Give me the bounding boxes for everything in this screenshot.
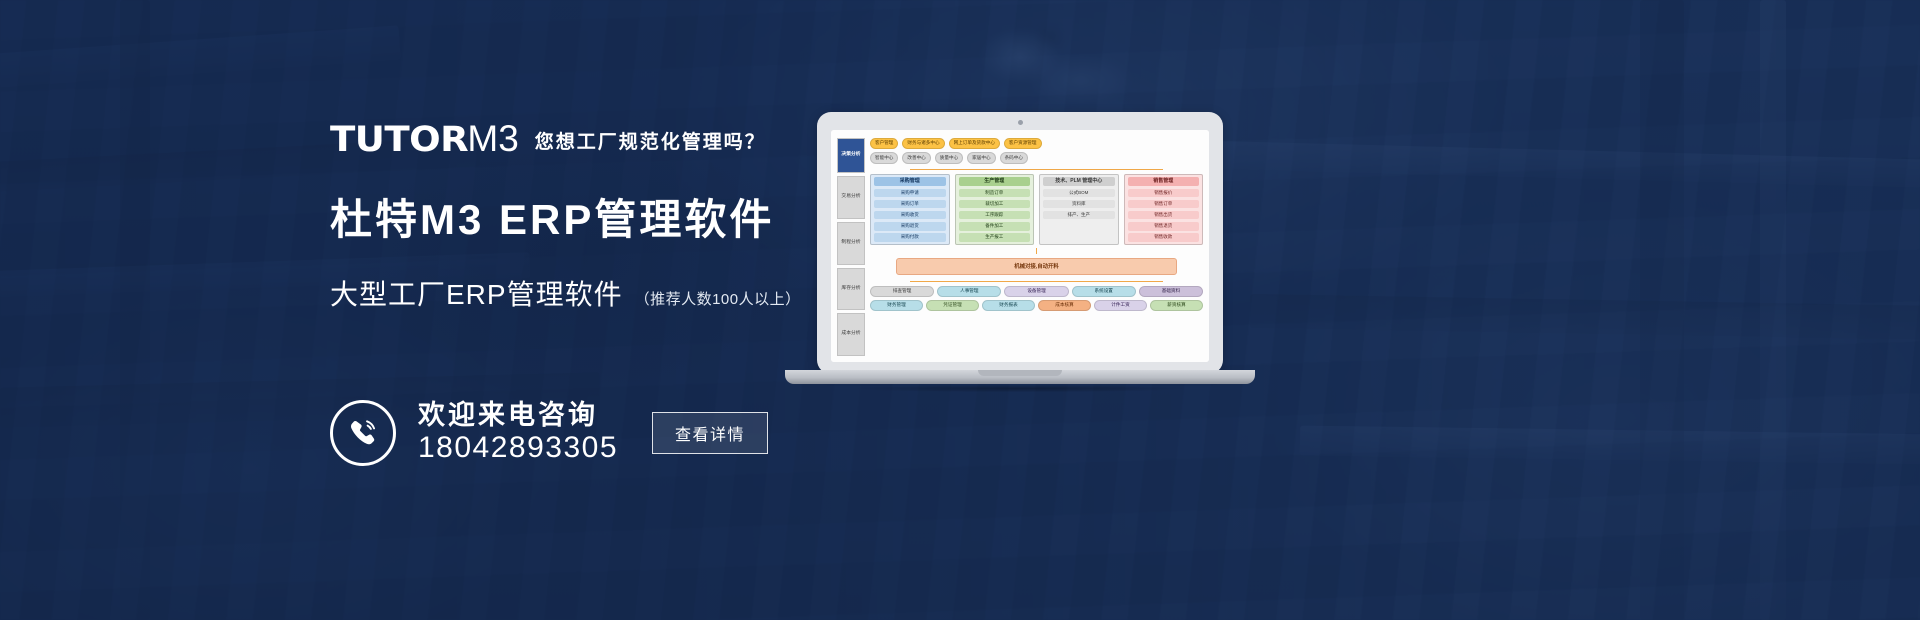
erp-chip: 条码中心 bbox=[1000, 152, 1028, 163]
erp-panel-item: 销售出货 bbox=[1128, 211, 1200, 220]
erp-panel-title: 技术、PLM 管理中心 bbox=[1043, 177, 1115, 186]
erp-chip: 人事管理 bbox=[937, 286, 1001, 297]
erp-chip: 客户资源管理 bbox=[1004, 138, 1042, 149]
erp-connector bbox=[870, 279, 1203, 283]
phone-ringing-icon[interactable] bbox=[330, 400, 396, 466]
erp-highlight-bar: 机械对接,自动开料 bbox=[896, 258, 1177, 274]
erp-left-item: 成本分析 bbox=[837, 313, 865, 356]
erp-panel-item: 采购收货 bbox=[874, 211, 946, 220]
erp-top-row-2: 智能中心 改善中心 质量中心 家居中心 条码中心 bbox=[870, 152, 1203, 163]
erp-panel-production: 生产管理 制造订单 裁切加工 工序跟踪 备件加工 生产报工 bbox=[955, 174, 1035, 245]
erp-connector-arrow bbox=[1036, 248, 1037, 254]
erp-panel-item: 销售退货 bbox=[1128, 222, 1200, 231]
erp-main-column: 客户管理 财务与诸多中心 网上订单及货款中心 客户资源管理 智能中心 改善中心 … bbox=[865, 138, 1203, 356]
erp-chip: 薪资核算 bbox=[1150, 300, 1203, 311]
erp-panel-title: 生产管理 bbox=[959, 177, 1031, 186]
erp-chip: 财务报表 bbox=[982, 300, 1035, 311]
erp-module-panels: 采购管理 采购申请 采购订单 采购收货 采购退货 采购付款 生产管理 制造订单 … bbox=[870, 174, 1203, 245]
erp-left-item: 制程分析 bbox=[837, 222, 865, 265]
erp-chip: 家居中心 bbox=[967, 152, 995, 163]
erp-chip: 客户管理 bbox=[870, 138, 898, 149]
erp-chip: 凭证管理 bbox=[926, 300, 979, 311]
erp-left-item: 交易分析 bbox=[837, 176, 865, 219]
contact-title: 欢迎来电咨询 bbox=[418, 402, 618, 430]
erp-panel-item: 生产报工 bbox=[959, 233, 1031, 242]
erp-left-item: 决策分析 bbox=[837, 138, 865, 173]
contact-block: 欢迎来电咨询 18042893305 查看详情 bbox=[330, 400, 768, 466]
erp-chip: 排查管理 bbox=[870, 286, 934, 297]
hero-banner: TUTOR M3 您想工厂规范化管理吗？ 杜特M3 ERP管理软件 大型工厂ER… bbox=[0, 0, 1920, 620]
erp-panel-purchasing: 采购管理 采购申请 采购订单 采购收货 采购退货 采购付款 bbox=[870, 174, 950, 245]
contact-text: 欢迎来电咨询 18042893305 bbox=[418, 402, 618, 464]
erp-panel-item: 排产、生产 bbox=[1043, 211, 1115, 220]
erp-chip: 基础资料 bbox=[1139, 286, 1203, 297]
erp-panel-technology: 技术、PLM 管理中心 公式BOM 资料库 排产、生产 bbox=[1039, 174, 1119, 245]
erp-chip: 设备管理 bbox=[1004, 286, 1068, 297]
erp-chip: 财务与诸多中心 bbox=[902, 138, 944, 149]
erp-bottom-row-1: 排查管理 人事管理 设备管理 系统设置 基础资料 bbox=[870, 286, 1203, 297]
erp-panel-item: 采购订单 bbox=[874, 200, 946, 209]
erp-panel-item: 采购申请 bbox=[874, 189, 946, 198]
erp-left-item: 库存分析 bbox=[837, 268, 865, 311]
hero-subtitle: 大型工厂ERP管理软件 bbox=[330, 273, 623, 313]
erp-panel-item: 公式BOM bbox=[1043, 189, 1115, 198]
erp-panel-item: 销售订单 bbox=[1128, 200, 1200, 209]
erp-architecture-diagram: 决策分析 交易分析 制程分析 库存分析 成本分析 客户管理 财务与诸多中心 网上… bbox=[831, 130, 1209, 362]
erp-panel-item: 采购付款 bbox=[874, 233, 946, 242]
erp-panel-sales: 销售管理 销售报价 销售订单 销售出货 销售退货 销售收款 bbox=[1124, 174, 1204, 245]
brand-logo-sub: M3 bbox=[467, 118, 518, 160]
erp-panel-item: 销售报价 bbox=[1128, 189, 1200, 198]
webcam-dot-icon bbox=[1018, 120, 1023, 125]
erp-bottom-row-2: 财务管理 凭证管理 财务报表 成本核算 计件工资 薪资核算 bbox=[870, 300, 1203, 311]
erp-chip: 改善中心 bbox=[902, 152, 930, 163]
laptop-notch bbox=[978, 370, 1062, 376]
contact-phone-number[interactable]: 18042893305 bbox=[418, 433, 618, 464]
erp-chip: 系统设置 bbox=[1072, 286, 1136, 297]
erp-panel-title: 销售管理 bbox=[1128, 177, 1200, 186]
erp-panel-item: 销售收款 bbox=[1128, 233, 1200, 242]
erp-chip: 智能中心 bbox=[870, 152, 898, 163]
hero-subtitle-note: （推荐人数100人以上） bbox=[635, 288, 801, 309]
erp-chip: 网上订单及货款中心 bbox=[949, 138, 1000, 149]
laptop-screen: 决策分析 交易分析 制程分析 库存分析 成本分析 客户管理 财务与诸多中心 网上… bbox=[831, 130, 1209, 362]
erp-panel-item: 裁切加工 bbox=[959, 200, 1031, 209]
erp-panel-item: 备件加工 bbox=[959, 222, 1031, 231]
erp-panel-item: 采购退货 bbox=[874, 222, 946, 231]
erp-chip: 财务管理 bbox=[870, 300, 923, 311]
erp-panel-item: 制造订单 bbox=[959, 189, 1031, 198]
erp-connector bbox=[870, 167, 1203, 171]
erp-top-row-1: 客户管理 财务与诸多中心 网上订单及货款中心 客户资源管理 bbox=[870, 138, 1203, 149]
erp-chip: 质量中心 bbox=[935, 152, 963, 163]
erp-panel-title: 采购管理 bbox=[874, 177, 946, 186]
view-details-button[interactable]: 查看详情 bbox=[652, 412, 768, 454]
laptop-lid: 决策分析 交易分析 制程分析 库存分析 成本分析 客户管理 财务与诸多中心 网上… bbox=[817, 112, 1223, 374]
hero-tagline: 您想工厂规范化管理吗？ bbox=[535, 127, 766, 154]
laptop-shadow bbox=[795, 384, 1245, 393]
brand-logo-main: TUTOR bbox=[330, 120, 468, 160]
laptop-mockup: 决策分析 交易分析 制程分析 库存分析 成本分析 客户管理 财务与诸多中心 网上… bbox=[785, 112, 1255, 394]
erp-panel-item: 资料库 bbox=[1043, 200, 1115, 209]
erp-panel-item: 工序跟踪 bbox=[959, 211, 1031, 220]
erp-left-column: 决策分析 交易分析 制程分析 库存分析 成本分析 bbox=[837, 138, 865, 356]
erp-chip: 成本核算 bbox=[1038, 300, 1091, 311]
erp-chip: 计件工资 bbox=[1094, 300, 1147, 311]
